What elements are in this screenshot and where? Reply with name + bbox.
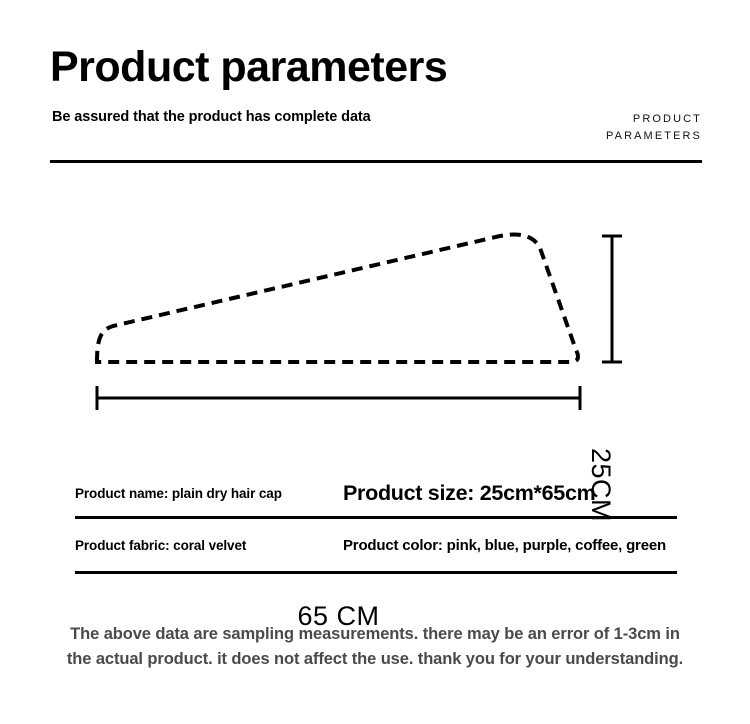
spec-cell-product-name: Product name: plain dry hair cap — [75, 486, 343, 501]
product-parameters-page: Product parameters Be assured that the p… — [0, 0, 750, 724]
spec-cell-product-fabric: Product fabric: coral velvet — [75, 538, 343, 553]
spec-cell-product-size: Product size: 25cm*65cm — [343, 481, 677, 505]
eyebrow-line-1: PRODUCT — [482, 111, 702, 128]
diagram-svg — [0, 200, 750, 450]
header: Product parameters Be assured that the p… — [0, 0, 750, 170]
header-subtitle: Be assured that the product has complete… — [52, 109, 371, 125]
table-row: Product name: plain dry hair cap Product… — [75, 470, 677, 516]
product-silhouette-dashed-outline — [97, 235, 578, 363]
product-dimension-diagram: 25CM 65 CM — [0, 200, 750, 450]
product-color-value: Product color: pink, blue, purple, coffe… — [343, 538, 666, 553]
disclaimer-line-1: The above data are sampling measurements… — [0, 622, 750, 647]
width-dimension-line — [97, 386, 580, 410]
disclaimer-line-2: the actual product. it does not affect t… — [0, 647, 750, 672]
table-row: Product fabric: coral velvet Product col… — [75, 519, 677, 571]
product-name-value: Product name: plain dry hair cap — [75, 486, 282, 501]
page-title: Product parameters — [50, 42, 447, 92]
eyebrow-line-2: PARAMETERS — [482, 128, 702, 145]
spec-table: Product name: plain dry hair cap Product… — [75, 470, 677, 574]
product-size-value: Product size: 25cm*65cm — [343, 481, 595, 505]
spec-cell-product-color: Product color: pink, blue, purple, coffe… — [343, 538, 677, 553]
height-dimension-line — [602, 236, 622, 362]
eyebrow-label: PRODUCT PARAMETERS — [482, 111, 702, 145]
spec-divider-bottom — [75, 571, 677, 574]
disclaimer-note: The above data are sampling measurements… — [0, 622, 750, 672]
header-divider — [50, 160, 702, 163]
product-fabric-value: Product fabric: coral velvet — [75, 538, 246, 553]
